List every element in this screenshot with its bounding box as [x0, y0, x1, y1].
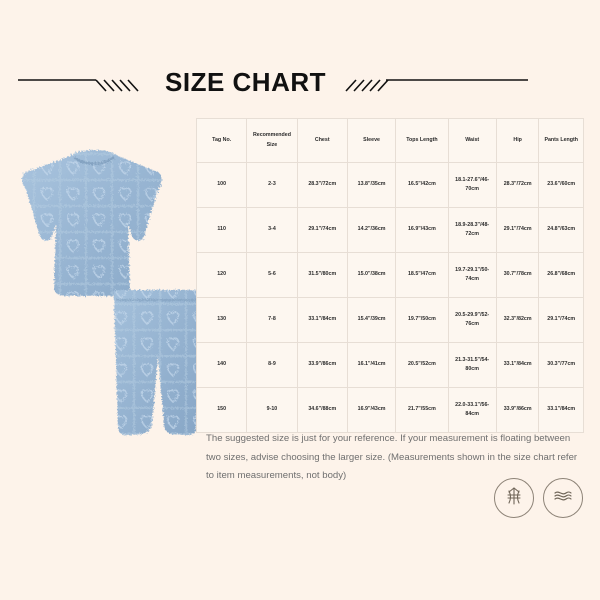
cell-sleeve: 14.2"/36cm — [347, 208, 395, 253]
cell-pants-length: 30.3"/77cm — [539, 343, 584, 388]
cell-chest: 33.9"/86cm — [297, 343, 347, 388]
cell-tops-length: 16.5"/42cm — [396, 163, 448, 208]
cell-chest: 29.1"/74cm — [297, 208, 347, 253]
soft-wave-badge — [543, 478, 583, 518]
cell-chest: 33.1"/84cm — [297, 298, 347, 343]
cell-chest: 31.5"/80cm — [297, 253, 347, 298]
feature-badges — [494, 478, 583, 518]
cell-waist: 18.9-28.3"/48-72cm — [448, 208, 496, 253]
cell-recommended-size: 2-3 — [247, 163, 297, 208]
column-header-chest: Chest — [297, 119, 347, 163]
fabric-stretch-badge — [494, 478, 534, 518]
cell-waist: 19.7-29.1"/50-74cm — [448, 253, 496, 298]
cell-sleeve: 16.1"/41cm — [347, 343, 395, 388]
column-header-tops-length: Tops Length — [396, 119, 448, 163]
column-header-tag-no: Tag No. — [197, 119, 247, 163]
cell-pants-length: 23.6"/60cm — [539, 163, 584, 208]
table-header-row: Tag No. Recommended Size Chest Sleeve To… — [197, 119, 584, 163]
cell-pants-length: 26.8"/68cm — [539, 253, 584, 298]
table-row: 100 2-3 28.3"/72cm 13.8"/35cm 16.5"/42cm… — [197, 163, 584, 208]
cell-waist: 22.0-33.1"/56-84cm — [448, 388, 496, 433]
cell-tops-length: 20.5"/52cm — [396, 343, 448, 388]
cell-recommended-size: 8-9 — [247, 343, 297, 388]
fabric-stretch-icon — [502, 484, 526, 513]
cell-sleeve: 16.9"/43cm — [347, 388, 395, 433]
cell-tops-length: 19.7"/50cm — [396, 298, 448, 343]
table-row: 140 8-9 33.9"/86cm 16.1"/41cm 20.5"/52cm… — [197, 343, 584, 388]
cell-hip: 33.1"/84cm — [496, 343, 539, 388]
cell-tag-no: 120 — [197, 253, 247, 298]
column-header-recommended-size: Recommended Size — [247, 119, 297, 163]
cell-sleeve: 15.4"/39cm — [347, 298, 395, 343]
cell-tag-no: 110 — [197, 208, 247, 253]
cell-pants-length: 24.8"/63cm — [539, 208, 584, 253]
column-header-pants-length: Pants Length — [539, 119, 584, 163]
cell-waist: 21.3-31.5"/54-80cm — [448, 343, 496, 388]
cell-chest: 28.3"/72cm — [297, 163, 347, 208]
table-row: 110 3-4 29.1"/74cm 14.2"/36cm 16.9"/43cm… — [197, 208, 584, 253]
cell-pants-length: 29.1"/74cm — [539, 298, 584, 343]
soft-wave-icon — [551, 484, 575, 513]
cell-waist: 18.1-27.6"/46-70cm — [448, 163, 496, 208]
product-photo — [8, 128, 200, 438]
size-chart-table: Tag No. Recommended Size Chest Sleeve To… — [196, 118, 584, 433]
cell-pants-length: 33.1"/84cm — [539, 388, 584, 433]
cell-chest: 34.6"/88cm — [297, 388, 347, 433]
cell-tag-no: 140 — [197, 343, 247, 388]
cell-tag-no: 130 — [197, 298, 247, 343]
decoration-right — [338, 70, 528, 94]
cell-tops-length: 16.9"/43cm — [396, 208, 448, 253]
cell-waist: 20.5-29.9"/52-76cm — [448, 298, 496, 343]
cell-tops-length: 18.5"/47cm — [396, 253, 448, 298]
cell-hip: 33.9"/86cm — [496, 388, 539, 433]
cell-hip: 30.7"/78cm — [496, 253, 539, 298]
column-header-sleeve: Sleeve — [347, 119, 395, 163]
title-row: SIZE CHART — [0, 62, 600, 102]
cell-tag-no: 150 — [197, 388, 247, 433]
cell-recommended-size: 9-10 — [247, 388, 297, 433]
column-header-waist: Waist — [448, 119, 496, 163]
cell-hip: 28.3"/72cm — [496, 163, 539, 208]
cell-sleeve: 13.8"/35cm — [347, 163, 395, 208]
column-header-hip: Hip — [496, 119, 539, 163]
cell-hip: 32.3"/82cm — [496, 298, 539, 343]
table-row: 120 5-6 31.5"/80cm 15.0"/38cm 18.5"/47cm… — [197, 253, 584, 298]
cell-sleeve: 15.0"/38cm — [347, 253, 395, 298]
decoration-left — [18, 70, 153, 94]
cell-tag-no: 100 — [197, 163, 247, 208]
cell-hip: 29.1"/74cm — [496, 208, 539, 253]
page-title: SIZE CHART — [153, 67, 338, 98]
cell-recommended-size: 3-4 — [247, 208, 297, 253]
cell-recommended-size: 5-6 — [247, 253, 297, 298]
table-row: 130 7-8 33.1"/84cm 15.4"/39cm 19.7"/50cm… — [197, 298, 584, 343]
cell-recommended-size: 7-8 — [247, 298, 297, 343]
table-row: 150 9-10 34.6"/88cm 16.9"/43cm 21.7"/55c… — [197, 388, 584, 433]
cell-tops-length: 21.7"/55cm — [396, 388, 448, 433]
